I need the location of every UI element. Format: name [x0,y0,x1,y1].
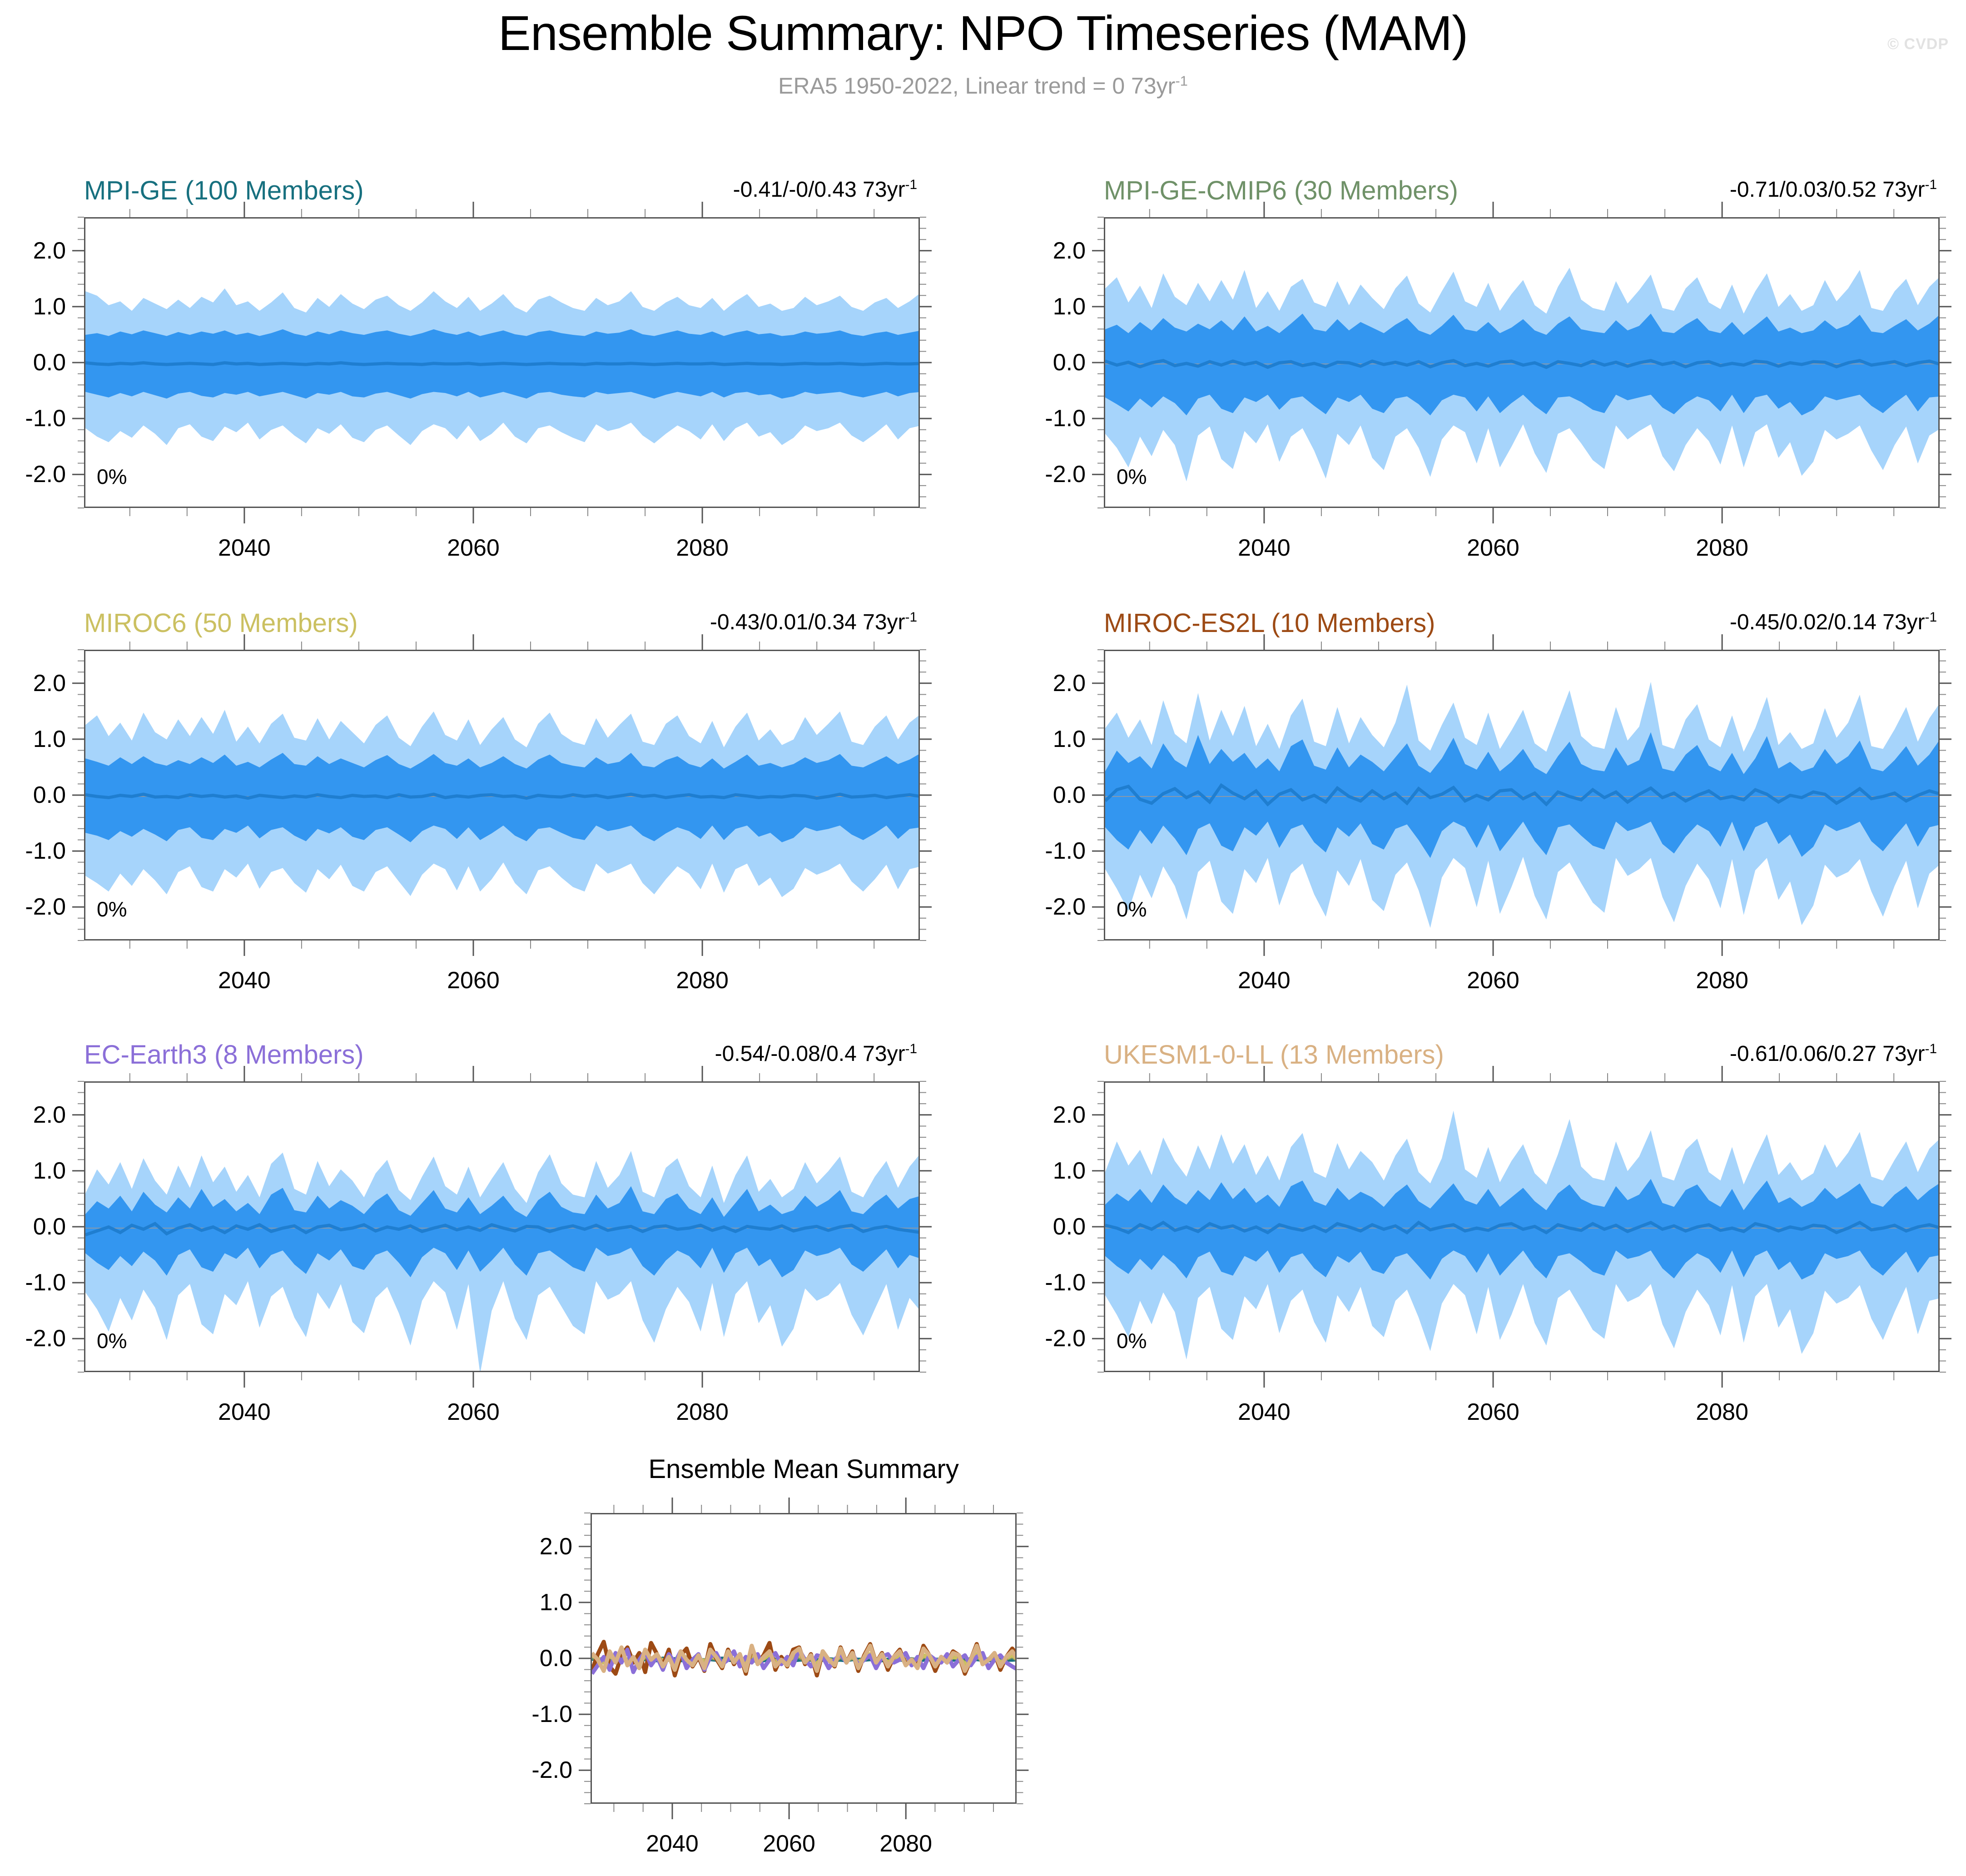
y-axis-tick-label: 0.0 [477,1645,572,1672]
panel-trend-mpi-ge-cmip6: -0.71/0.03/0.52 73yr-1 [1730,177,1937,202]
panel-title-ukesm1-0-ll: UKESM1-0-LL (13 Members) [1104,1040,1444,1070]
percent-label-ec-earth3: 0% [97,1329,127,1353]
y-axis-tick-label: 0.0 [0,349,66,376]
plot-area-miroc-es2l [1104,650,1940,940]
panel-header: UKESM1-0-LL (13 Members) -0.61/0.06/0.27… [1078,1040,1940,1071]
y-axis-tick-label: 2.0 [0,237,66,264]
y-axis-tick-label: -2.0 [990,893,1086,921]
ensemble-bands-svg [1105,651,1940,940]
panel-header: MIROC6 (50 Members) -0.43/0.01/0.34 73yr… [59,608,920,640]
x-axis-tick-label: 2060 [447,1398,500,1426]
x-axis-tick-label: 2060 [1467,534,1519,562]
y-axis-tick-label: 1.0 [0,726,66,753]
x-axis-tick-label: 2060 [447,534,500,562]
y-axis-tick-label: 2.0 [477,1533,572,1560]
y-axis-tick-label: 0.0 [990,1213,1086,1240]
y-axis-tick-label: 1.0 [477,1589,572,1616]
y-axis-tick-label: 2.0 [0,670,66,697]
plot-area-ec-earth3 [84,1081,920,1372]
ensemble-median-line [85,363,920,365]
y-axis-tick-label: -2.0 [990,461,1086,488]
panel-trend-mpi-ge: -0.41/-0/0.43 73yr-1 [733,177,917,202]
x-axis-tick-label: 2060 [1467,1398,1519,1426]
y-axis-tick-label: 2.0 [990,1101,1086,1129]
percent-label-miroc6: 0% [97,897,127,921]
plot-area-ukesm1-0-ll [1104,1081,1940,1372]
x-axis-tick-label: 2040 [1238,1398,1291,1426]
y-axis-tick-label: -1.0 [0,837,66,865]
ensemble-bands-svg [85,651,920,940]
ensemble-bands-svg [85,219,920,508]
page-subtitle: ERA5 1950-2022, Linear trend = 0 73yr-1 [0,73,1966,99]
panel-title-miroc6: MIROC6 (50 Members) [84,608,358,638]
y-axis-tick-label: -2.0 [990,1325,1086,1352]
x-axis-tick-label: 2040 [1238,534,1291,562]
plot-area-miroc6 [84,650,920,940]
y-axis-tick-label: -1.0 [0,405,66,432]
x-axis-tick-label: 2040 [218,967,271,994]
cvdp-watermark: © CVDP [1887,35,1949,53]
y-axis-tick-label: -1.0 [477,1701,572,1728]
panel-header: MPI-GE (100 Members) -0.41/-0/0.43 73yr-… [59,175,920,207]
y-axis-tick-label: -1.0 [990,837,1086,865]
x-axis-tick-label: 2060 [447,967,500,994]
panel-header: EC-Earth3 (8 Members) -0.54/-0.08/0.4 73… [59,1040,920,1071]
y-axis-tick-label: -2.0 [0,461,66,488]
x-axis-tick-label: 2040 [218,1398,271,1426]
y-axis-tick-label: 0.0 [0,781,66,809]
ensemble-bands-svg [85,1083,920,1372]
panel-header: MIROC-ES2L (10 Members) -0.45/0.02/0.14 … [1078,608,1940,640]
y-axis-tick-label: 1.0 [990,1157,1086,1184]
subtitle-text: ERA5 1950-2022, Linear trend = 0 73yr [778,73,1175,99]
y-axis-tick-label: 2.0 [990,237,1086,264]
panel-title-mpi-ge-cmip6: MPI-GE-CMIP6 (30 Members) [1104,175,1458,206]
y-axis-tick-label: -2.0 [477,1757,572,1784]
percent-label-mpi-ge-cmip6: 0% [1117,464,1147,489]
panel-trend-ukesm1-0-ll: -0.61/0.06/0.27 73yr-1 [1730,1041,1937,1066]
y-axis-tick-label: 2.0 [990,670,1086,697]
subtitle-exponent: -1 [1175,73,1188,89]
x-axis-tick-label: 2060 [763,1830,815,1857]
ensemble-bands-svg [1105,219,1940,508]
ensemble-mean-summary-title: Ensemble Mean Summary [649,1454,959,1484]
x-axis-tick-label: 2080 [1696,534,1748,562]
x-axis-tick-label: 2080 [1696,967,1748,994]
y-axis-tick-label: -2.0 [0,893,66,921]
page-title: Ensemble Summary: NPO Timeseries (MAM) [0,5,1966,61]
panel-title-miroc-es2l: MIROC-ES2L (10 Members) [1104,608,1435,638]
plot-area-mpi-ge [84,217,920,508]
y-axis-tick-label: 1.0 [0,1157,66,1184]
percent-label-ukesm1-0-ll: 0% [1117,1329,1147,1353]
y-axis-tick-label: 1.0 [0,293,66,320]
y-axis-tick-label: -1.0 [990,405,1086,432]
y-axis-tick-label: 0.0 [990,349,1086,376]
panel-trend-ec-earth3: -0.54/-0.08/0.4 73yr-1 [715,1041,917,1066]
panel-title-mpi-ge: MPI-GE (100 Members) [84,175,364,206]
x-axis-tick-label: 2080 [1696,1398,1748,1426]
x-axis-tick-label: 2060 [1467,967,1519,994]
x-axis-tick-label: 2080 [676,1398,729,1426]
panel-trend-miroc-es2l: -0.45/0.02/0.14 73yr-1 [1730,610,1937,635]
ensemble-mean-plot-area [591,1513,1017,1804]
ensemble-mean-svg [592,1514,1017,1804]
panel-header: MPI-GE-CMIP6 (30 Members) -0.71/0.03/0.5… [1078,175,1940,207]
x-axis-tick-label: 2080 [676,534,729,562]
percent-label-mpi-ge: 0% [97,464,127,489]
x-axis-tick-label: 2080 [676,967,729,994]
panel-title-ec-earth3: EC-Earth3 (8 Members) [84,1040,364,1070]
x-axis-tick-label: 2040 [218,534,271,562]
panel-trend-miroc6: -0.43/0.01/0.34 73yr-1 [710,610,917,635]
y-axis-tick-label: -2.0 [0,1325,66,1352]
percent-label-miroc-es2l: 0% [1117,897,1147,921]
y-axis-tick-label: 1.0 [990,293,1086,320]
x-axis-tick-label: 2040 [646,1830,699,1857]
y-axis-tick-label: 0.0 [0,1213,66,1240]
ensemble-bands-svg [1105,1083,1940,1372]
x-axis-tick-label: 2080 [879,1830,932,1857]
plot-area-mpi-ge-cmip6 [1104,217,1940,508]
y-axis-tick-label: -1.0 [0,1269,66,1296]
y-axis-tick-label: 2.0 [0,1101,66,1129]
x-axis-tick-label: 2040 [1238,967,1291,994]
y-axis-tick-label: 1.0 [990,726,1086,753]
y-axis-tick-label: 0.0 [990,781,1086,809]
y-axis-tick-label: -1.0 [990,1269,1086,1296]
